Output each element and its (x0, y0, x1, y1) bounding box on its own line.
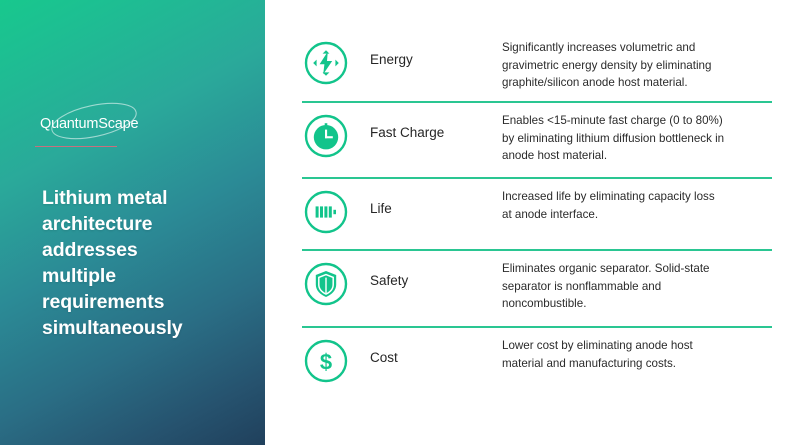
shield-icon (302, 260, 350, 308)
feature-description-life: Increased life by eliminating capacity l… (502, 179, 772, 223)
feature-label-fast-charge: Fast Charge (350, 103, 502, 141)
page-title: Lithium metal architecture addresses mul… (42, 186, 242, 342)
svg-text:QuantumScape: QuantumScape (40, 116, 138, 132)
quantumscape-ellipse-logo: QuantumScape (38, 102, 160, 142)
feature-list-panel: Energy Significantly increases volumetri… (265, 0, 800, 445)
feature-row-cost: $ Cost Lower cost by eliminating anode h… (302, 328, 772, 398)
quantumscape-logo: QuantumScape (38, 102, 160, 142)
slide-root: QuantumScape Lithium metal architecture … (0, 0, 800, 445)
feature-description-safety: Eliminates organic separator. Solid-stat… (502, 251, 772, 313)
feature-row-life: Life Increased life by eliminating capac… (302, 179, 772, 249)
feature-label-safety: Safety (350, 251, 502, 289)
feature-rows: Energy Significantly increases volumetri… (302, 30, 772, 398)
energy-bolt-icon (302, 39, 350, 87)
icon-cell: $ (302, 328, 350, 385)
feature-label-cost: Cost (350, 328, 502, 366)
dollar-sign-icon: $ (302, 337, 350, 385)
feature-row-safety: Safety Eliminates organic separator. Sol… (302, 251, 772, 326)
battery-icon (302, 188, 350, 236)
feature-row-energy: Energy Significantly increases volumetri… (302, 30, 772, 101)
icon-cell (302, 179, 350, 236)
icon-cell (302, 30, 350, 87)
left-title-panel: QuantumScape Lithium metal architecture … (0, 0, 265, 445)
svg-text:$: $ (320, 349, 332, 374)
icon-cell (302, 103, 350, 160)
stopwatch-icon (302, 112, 350, 160)
icon-cell (302, 251, 350, 308)
feature-description-fast-charge: Enables <15-minute fast charge (0 to 80%… (502, 103, 772, 165)
feature-label-energy: Energy (350, 30, 502, 68)
feature-description-energy: Significantly increases volumetric and g… (502, 30, 772, 92)
logo-underline-rule (35, 146, 117, 147)
feature-description-cost: Lower cost by eliminating anode host mat… (502, 328, 772, 372)
feature-row-fast-charge: Fast Charge Enables <15-minute fast char… (302, 103, 772, 177)
feature-label-life: Life (350, 179, 502, 217)
